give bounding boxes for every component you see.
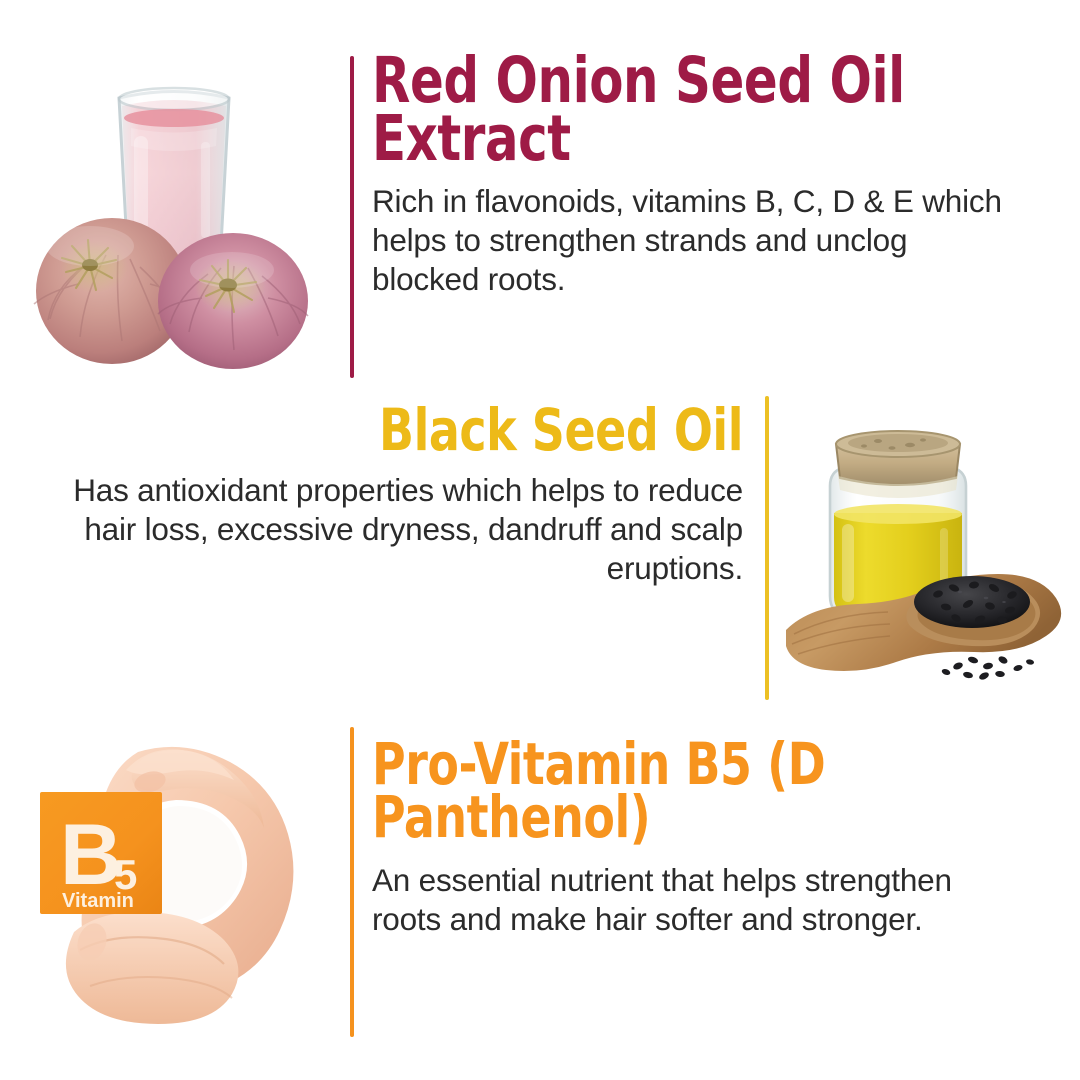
section-pro-vitamin-b5: Pro-Vitamin B5 (D Panthenol) An essentia… [372, 738, 1022, 939]
section-divider-yellow [765, 396, 769, 700]
section-divider-orange [350, 727, 354, 1037]
section-body-text: An essential nutrient that helps strengt… [372, 861, 1022, 939]
red-onions-and-juice-glass-image [18, 58, 330, 380]
section-heading: Pro-Vitamin B5 (D Panthenol) [372, 738, 944, 845]
section-heading: Black Seed Oil [142, 404, 743, 457]
infographic-canvas: Red Onion Seed Oil Extract Rich in flavo… [0, 0, 1080, 1080]
section-heading: Red Onion Seed Oil Extract [372, 52, 935, 168]
section-black-seed-oil: Black Seed Oil Has antioxidant propertie… [60, 404, 743, 589]
section-body-text: Has antioxidant properties which helps t… [60, 471, 743, 588]
section-body-text: Rich in flavonoids, vitamins B, C, D & E… [372, 182, 1012, 299]
section-red-onion-seed-oil-extract: Red Onion Seed Oil Extract Rich in flavo… [372, 52, 1012, 299]
hand-holding-vitamin-b5-card-image: B 5 Vitamin [26, 736, 332, 1028]
svg-text:Vitamin: Vitamin [62, 890, 134, 912]
svg-text:B: B [60, 807, 122, 903]
black-seed-oil-jar-and-spoon-image [778, 398, 1078, 700]
section-divider-red [350, 56, 354, 378]
